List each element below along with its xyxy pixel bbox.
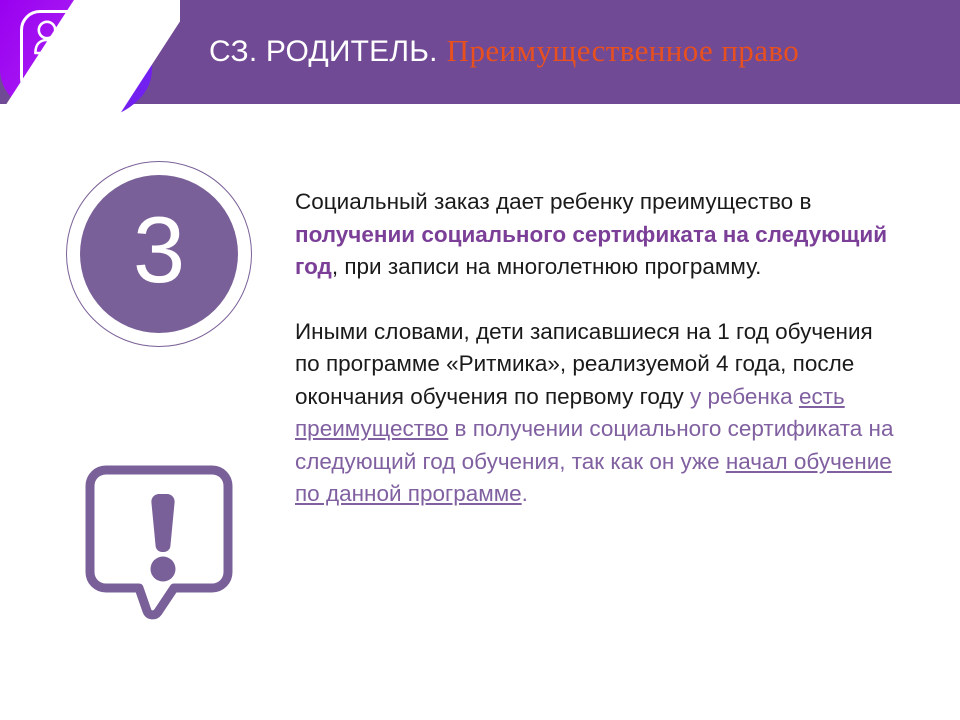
body-text: Социальный заказ дает ребенку преимущест…: [295, 186, 895, 511]
slide: СЗ СЗ. РОДИТЕЛЬ. Преимущественное право …: [0, 0, 960, 720]
p1-segment-3: , при записи на многолетнюю программу.: [332, 254, 762, 279]
page-title: СЗ. РОДИТЕЛЬ. Преимущественное право: [209, 33, 799, 77]
page-title-accent: Преимущественное право: [447, 33, 799, 69]
three-people-icon: [33, 19, 101, 65]
step-number-label: 3: [133, 203, 185, 297]
p2-segment-6-purple: .: [522, 481, 528, 506]
paragraph-1: Социальный заказ дает ребенку преимущест…: [295, 186, 895, 284]
slide-header: СЗ СЗ. РОДИТЕЛЬ. Преимущественное право: [0, 0, 960, 130]
logo-badge-text: СЗ: [23, 63, 105, 90]
page-title-main: СЗ. РОДИТЕЛЬ.: [209, 35, 438, 69]
p2-segment-2-purple: у ребенка: [690, 384, 799, 409]
exclamation-speech-bubble-icon: [78, 456, 250, 624]
p1-segment-1: Социальный заказ дает ребенку преимущест…: [295, 189, 811, 214]
step-number-circle: 3: [80, 175, 238, 333]
logo-badge: СЗ: [20, 10, 108, 98]
paragraph-2: Иными словами, дети записавшиеся на 1 го…: [295, 316, 895, 511]
